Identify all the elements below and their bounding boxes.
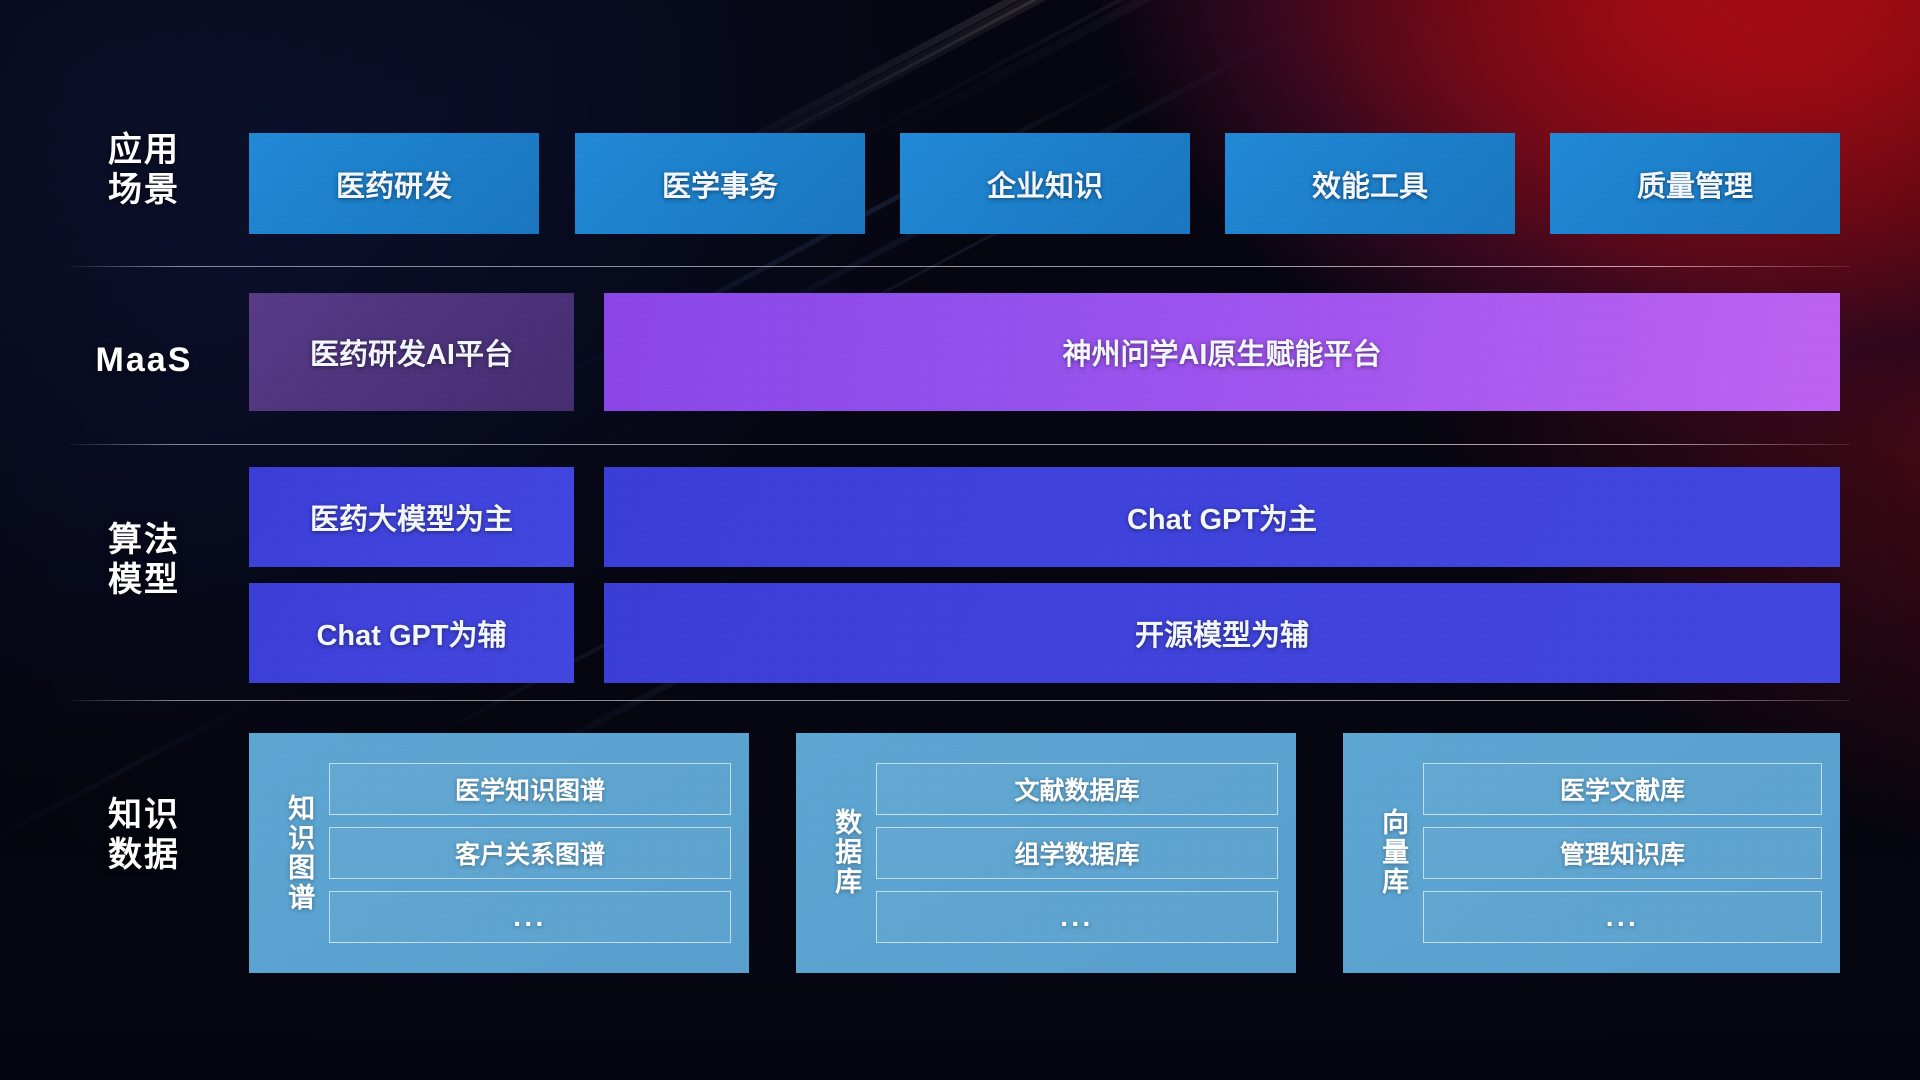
maas-box-medicine-ai-platform[interactable]: 医药研发AI平台	[249, 293, 574, 411]
divider-algorithm-knowledge	[70, 700, 1850, 701]
divider-application-maas	[70, 266, 1850, 267]
knowledge-item-management-knowledge[interactable]: 管理知识库	[1423, 827, 1822, 879]
knowledge-items-graph: 医学知识图谱 客户关系图谱 ...	[329, 751, 731, 955]
knowledge-item-omics-db[interactable]: 组学数据库	[876, 827, 1278, 879]
tier-label-knowledge: 知识 数据	[74, 795, 214, 875]
knowledge-group-label-vector: 向量库	[1363, 751, 1423, 955]
knowledge-group-label-graph: 知识图谱	[269, 751, 329, 955]
algo-box-chatgpt-primary[interactable]: Chat GPT为主	[604, 467, 1840, 567]
knowledge-items-vector: 医学文献库 管理知识库 ...	[1423, 751, 1822, 955]
knowledge-item-database-more[interactable]: ...	[876, 891, 1278, 943]
app-box-medical-affairs[interactable]: 医学事务	[575, 133, 865, 234]
knowledge-items-database: 文献数据库 组学数据库 ...	[876, 751, 1278, 955]
tier-label-algorithm: 算法 模型	[74, 520, 214, 600]
maas-box-shenzhou-wenxue-platform[interactable]: 神州问学AI原生赋能平台	[604, 293, 1840, 411]
architecture-diagram: 应用 场景 医药研发 医学事务 企业知识 效能工具 质量管理 MaaS 医药研发…	[0, 0, 1920, 1080]
divider-maas-algorithm	[70, 444, 1850, 445]
app-box-quality-management[interactable]: 质量管理	[1550, 133, 1840, 234]
app-box-efficiency-tools[interactable]: 效能工具	[1225, 133, 1515, 234]
knowledge-group-label-database: 数据库	[816, 751, 876, 955]
knowledge-item-medical-literature[interactable]: 医学文献库	[1423, 763, 1822, 815]
knowledge-group-vector[interactable]: 向量库 医学文献库 管理知识库 ...	[1343, 733, 1840, 973]
algo-box-opensource-secondary[interactable]: 开源模型为辅	[604, 583, 1840, 683]
tier-label-maas: MaaS	[74, 340, 214, 380]
app-box-enterprise-knowledge[interactable]: 企业知识	[900, 133, 1190, 234]
knowledge-item-medical-graph[interactable]: 医学知识图谱	[329, 763, 731, 815]
app-box-medicine-rd[interactable]: 医药研发	[249, 133, 539, 234]
knowledge-group-graph[interactable]: 知识图谱 医学知识图谱 客户关系图谱 ...	[249, 733, 749, 973]
algo-box-chatgpt-secondary[interactable]: Chat GPT为辅	[249, 583, 574, 683]
knowledge-item-customer-graph[interactable]: 客户关系图谱	[329, 827, 731, 879]
knowledge-item-graph-more[interactable]: ...	[329, 891, 731, 943]
algo-box-medicine-llm-primary[interactable]: 医药大模型为主	[249, 467, 574, 567]
knowledge-item-literature-db[interactable]: 文献数据库	[876, 763, 1278, 815]
knowledge-group-database[interactable]: 数据库 文献数据库 组学数据库 ...	[796, 733, 1296, 973]
tier-label-application: 应用 场景	[74, 130, 214, 210]
knowledge-item-vector-more[interactable]: ...	[1423, 891, 1822, 943]
